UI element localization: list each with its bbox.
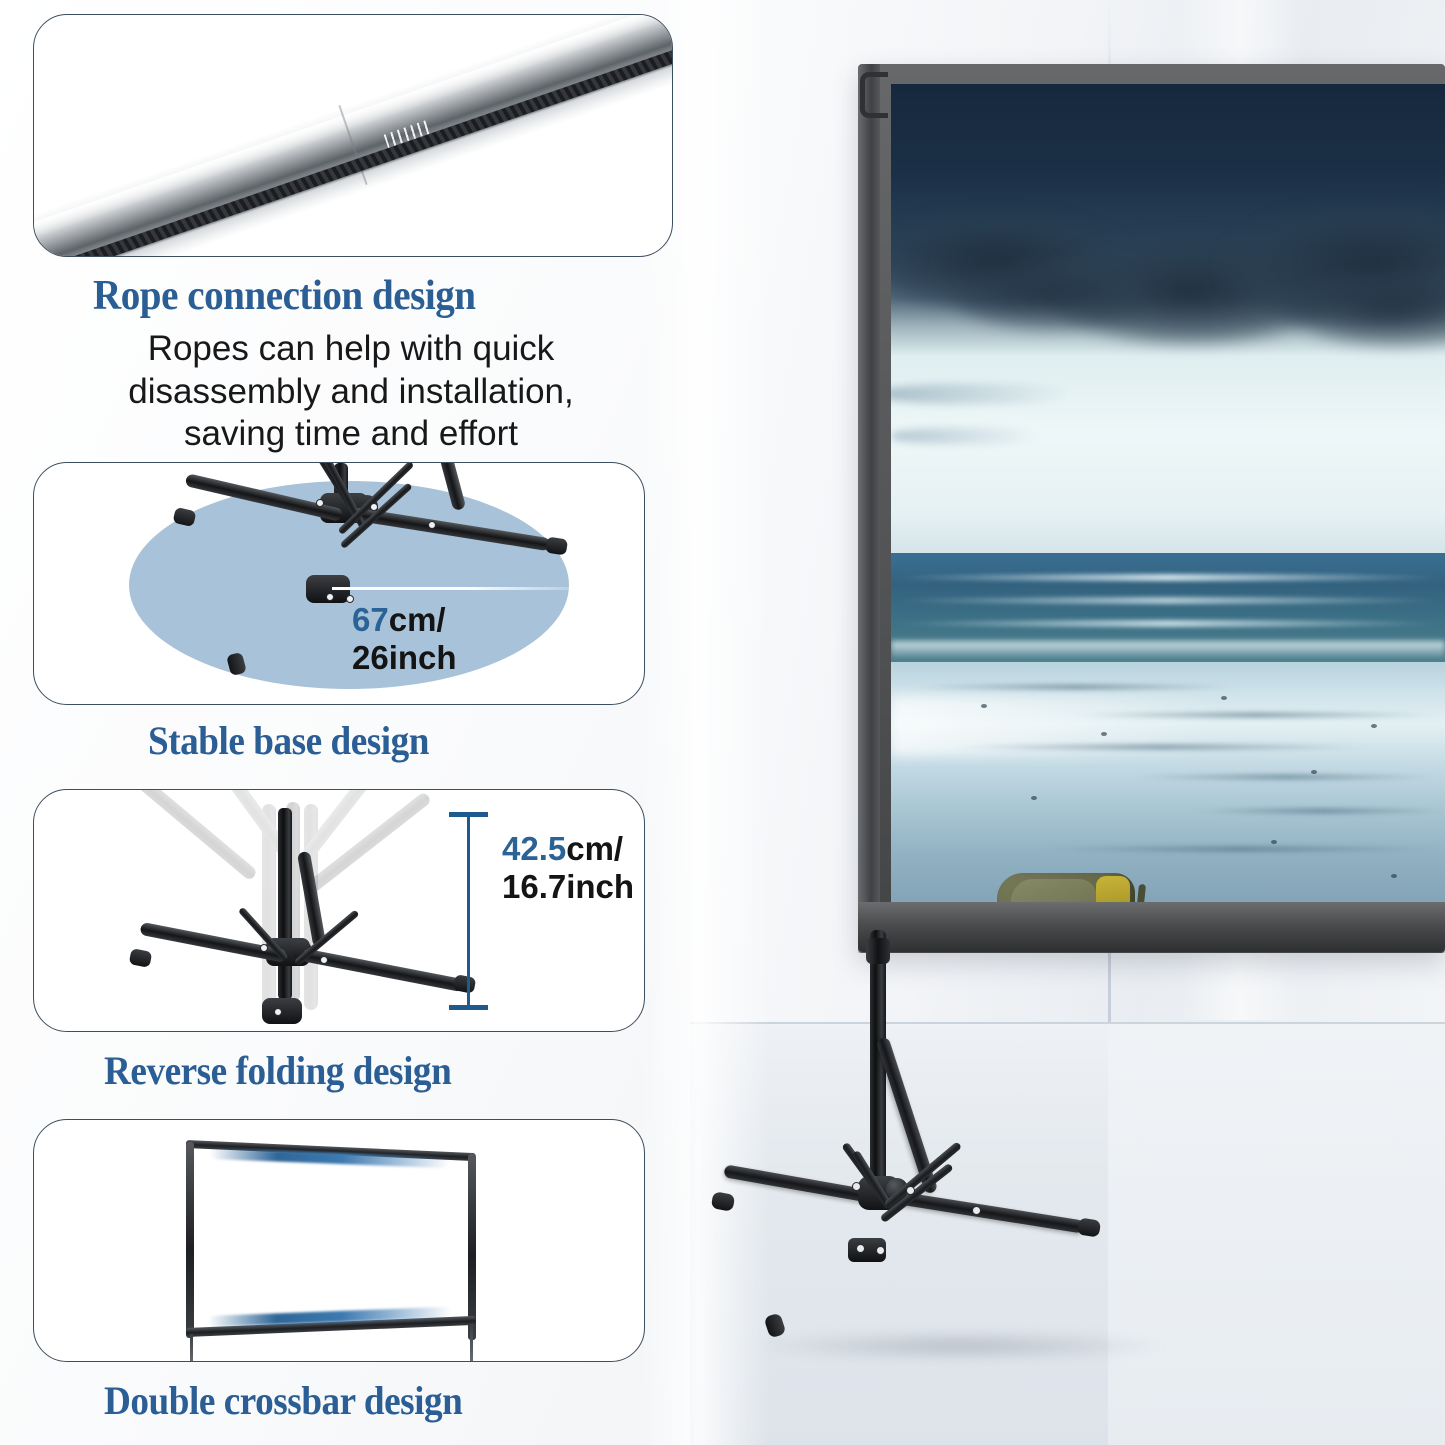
feature-card-rope-connection bbox=[33, 14, 673, 257]
pebble-5 bbox=[1371, 724, 1377, 728]
screen-corner-clip bbox=[860, 72, 888, 118]
feature-heading-reverse-folding: Reverse folding design bbox=[104, 1047, 451, 1094]
measurement-line-inch: 16.7inch bbox=[502, 868, 634, 906]
pole-illustration bbox=[34, 15, 672, 256]
height-dimension-cap-bottom bbox=[449, 1005, 488, 1010]
sand-ripple-1 bbox=[911, 684, 1241, 690]
pebble-4 bbox=[1311, 770, 1317, 774]
stand-pivot-1 bbox=[852, 1182, 861, 1191]
frame-leg-left bbox=[190, 1334, 193, 1362]
measurement-value: 67 bbox=[352, 601, 389, 638]
sand-ripple-2 bbox=[1071, 712, 1441, 718]
cloud-wisp-2 bbox=[891, 428, 1041, 444]
measurement-unit: cm/ bbox=[566, 830, 623, 867]
body-line-3: saving time and effort bbox=[62, 413, 640, 456]
base-width-dimension-line bbox=[332, 587, 574, 590]
height-dimension-line bbox=[467, 814, 470, 1008]
body-line-1: Ropes can help with quick bbox=[62, 328, 640, 371]
tripod-leg-cap-right bbox=[545, 536, 568, 555]
screen-frame-outline bbox=[34, 1120, 644, 1361]
folded-leg-front bbox=[297, 851, 326, 948]
folded-pivot-c bbox=[274, 1008, 282, 1016]
pebble-8 bbox=[1391, 874, 1397, 878]
folded-pivot-b bbox=[320, 956, 328, 964]
sand-ripple-6 bbox=[1041, 846, 1441, 852]
folded-center-pole bbox=[278, 808, 292, 1000]
stand-pivot-5 bbox=[876, 1246, 885, 1255]
pebble-2 bbox=[1101, 732, 1107, 736]
stand-floor-shadow bbox=[750, 1330, 1170, 1362]
pivot-rivet-d bbox=[326, 593, 334, 601]
cloud-wisp-1 bbox=[891, 384, 1071, 404]
stand-pivot-3 bbox=[972, 1206, 981, 1215]
screen-left-frame-pad bbox=[858, 64, 880, 953]
sand-ripple-5 bbox=[1191, 808, 1445, 814]
pivot-rivet-b bbox=[370, 503, 378, 511]
pivot-rivet-c bbox=[428, 521, 436, 529]
stand-pivot-4 bbox=[856, 1244, 865, 1253]
frame-leg-right bbox=[470, 1324, 473, 1362]
stand-leg-cap-left bbox=[711, 1191, 736, 1212]
pebble-1 bbox=[981, 704, 987, 708]
storm-cloud-4 bbox=[951, 262, 1151, 332]
pivot-rivet-a bbox=[316, 499, 324, 507]
feature-card-double-crossbar bbox=[33, 1119, 645, 1362]
feature-heading-stable-base: Stable base design bbox=[148, 717, 429, 764]
folded-leg-cap-left bbox=[129, 948, 153, 968]
measurement-line-inch: 26inch bbox=[352, 639, 457, 677]
stand-mast-collar bbox=[866, 938, 890, 964]
stand-pivot-2 bbox=[906, 1186, 915, 1195]
measurement-value: 42.5 bbox=[502, 830, 566, 867]
product-photo-projector-screen bbox=[690, 0, 1445, 1445]
projected-beach-image bbox=[891, 84, 1445, 922]
feature-column: Rope connection design Ropes can help wi… bbox=[0, 0, 700, 1445]
sand-ripple-3 bbox=[951, 744, 1371, 750]
stand-leg-cap-right bbox=[1077, 1217, 1101, 1237]
screen-bottom-frame-band bbox=[858, 902, 1445, 952]
folded-leg-right bbox=[301, 948, 464, 992]
folded-pivot-a bbox=[260, 944, 268, 952]
pebble-7 bbox=[1271, 840, 1277, 844]
feature-card-stable-base: 67cm/ 26inch bbox=[33, 462, 645, 705]
body-line-2: disassembly and installation, bbox=[62, 371, 640, 414]
shoreline-foam bbox=[891, 641, 1445, 657]
feature-body-rope-connection: Ropes can help with quick disassembly an… bbox=[62, 328, 640, 456]
sand-ripple-4 bbox=[1131, 774, 1441, 780]
pebble-3 bbox=[1221, 696, 1227, 700]
measurement-line-cm: 42.5cm/ bbox=[502, 830, 634, 868]
feature-heading-rope-connection: Rope connection design bbox=[93, 272, 476, 320]
measurement-unit: cm/ bbox=[389, 601, 446, 638]
base-width-measurement: 67cm/ 26inch bbox=[352, 601, 457, 678]
feature-heading-double-crossbar: Double crossbar design bbox=[104, 1377, 462, 1424]
feature-card-reverse-folding: 42.5cm/ 16.7inch bbox=[33, 789, 645, 1032]
fold-height-measurement: 42.5cm/ 16.7inch bbox=[502, 830, 634, 907]
wave-crest-2 bbox=[891, 597, 1445, 604]
pebble-6 bbox=[1031, 796, 1037, 800]
ghost-leg-left-a bbox=[127, 789, 258, 881]
folded-lower-collar bbox=[262, 998, 302, 1024]
frame-right-post bbox=[468, 1154, 476, 1340]
frame-left-post bbox=[186, 1142, 194, 1338]
measurement-line-cm: 67cm/ bbox=[352, 601, 457, 639]
